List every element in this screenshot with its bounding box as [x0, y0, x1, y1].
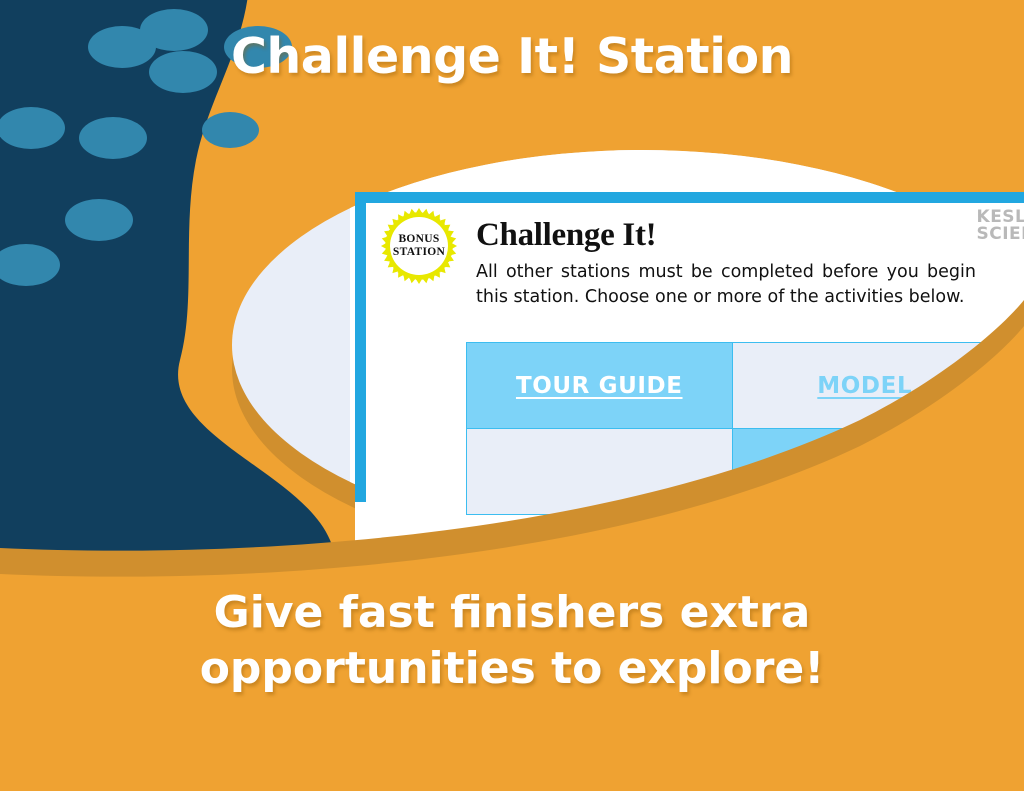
- worksheet-sheet: BONUS STATION Challenge It! All other st…: [355, 192, 1024, 552]
- activity-link-model[interactable]: MODEL: [817, 373, 912, 399]
- sheet-left-border: [355, 192, 366, 502]
- activities-table: TOUR GUIDE MODEL: [466, 342, 998, 515]
- watermark-line-2: SCIENCE: [977, 226, 1024, 243]
- tagline-line-1: Give fast finishers extra: [0, 585, 1024, 641]
- tagline: Give fast finishers extra opportunities …: [0, 585, 1024, 697]
- activity-link-tour-guide[interactable]: TOUR GUIDE: [516, 373, 683, 399]
- tagline-line-2: opportunities to explore!: [0, 641, 1024, 697]
- bonus-station-badge: BONUS STATION: [378, 205, 460, 287]
- kesler-science-watermark: KESLER SCIENCE: [977, 209, 1024, 243]
- badge-text: BONUS STATION: [378, 205, 460, 287]
- activity-cell-row2-left[interactable]: [467, 429, 733, 515]
- sheet-top-border: [355, 192, 1024, 203]
- sheet-content: BONUS STATION Challenge It! All other st…: [366, 203, 1024, 552]
- badge-line-1: BONUS: [398, 233, 439, 246]
- worksheet-instructions: All other stations must be completed bef…: [476, 260, 976, 310]
- slide-canvas: BONUS STATION Challenge It! All other st…: [0, 0, 1024, 791]
- activity-cell-row2-right[interactable]: [732, 429, 998, 515]
- badge-line-2: STATION: [393, 246, 445, 259]
- worksheet-title: Challenge It!: [476, 217, 656, 254]
- activity-cell-tour-guide[interactable]: TOUR GUIDE: [467, 343, 733, 429]
- page-title: Challenge It! Station: [0, 28, 1024, 85]
- activity-cell-model[interactable]: MODEL: [732, 343, 998, 429]
- table-row: [467, 429, 998, 515]
- table-row: TOUR GUIDE MODEL: [467, 343, 998, 429]
